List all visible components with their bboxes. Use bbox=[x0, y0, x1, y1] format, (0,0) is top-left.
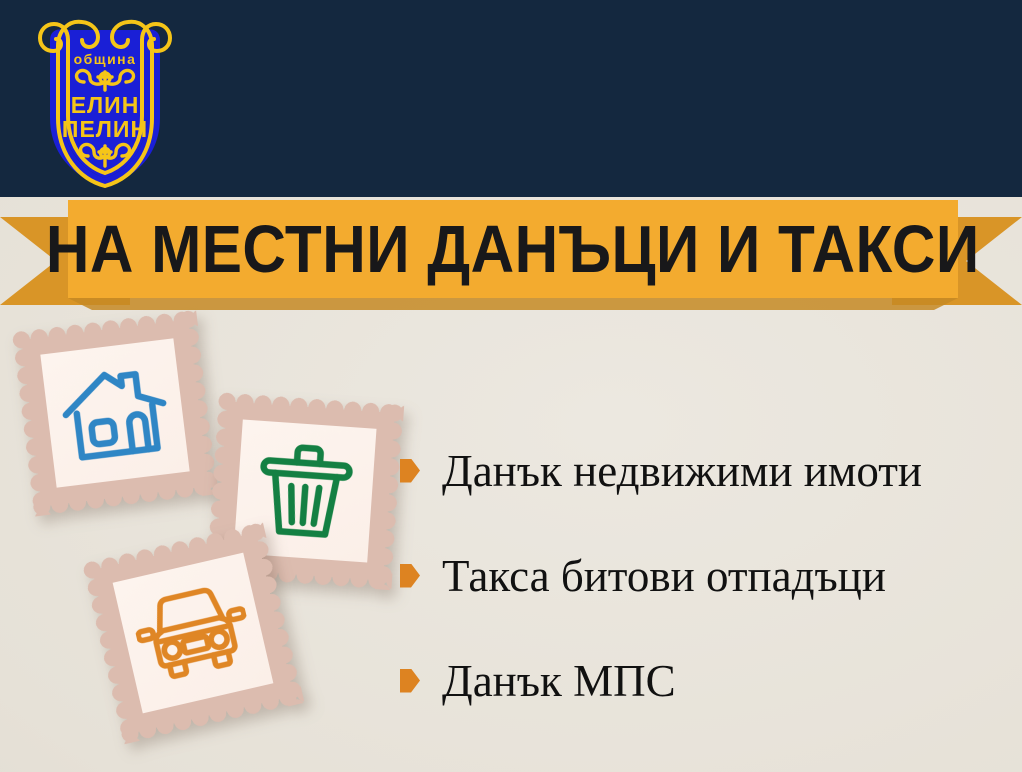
list-item[interactable]: Данък недвижими имоти bbox=[400, 418, 1000, 523]
tax-type-list: Данък недвижими имоти Такса битови отпад… bbox=[400, 418, 1000, 733]
ribbon-label: НА МЕСТНИ ДАНЪЦИ И ТАКСИ bbox=[46, 216, 980, 283]
ribbon-shadow bbox=[68, 298, 958, 310]
ribbon-banner: НА МЕСТНИ ДАНЪЦИ И ТАКСИ bbox=[0, 200, 1022, 312]
svg-text:община: община bbox=[74, 51, 137, 67]
poster-canvas: ПРОВЕРКА И ПЛАЩАНЕ НА ЗАДЪЛЖЕНИЯ община bbox=[0, 0, 1022, 772]
list-item[interactable]: Такса битови отпадъци bbox=[400, 523, 1000, 628]
bullet-arrow-icon bbox=[400, 669, 420, 693]
svg-text:ЕЛИН: ЕЛИН bbox=[71, 92, 140, 118]
list-item-label: Такса битови отпадъци bbox=[442, 551, 886, 601]
bullet-arrow-icon bbox=[400, 459, 420, 483]
list-item-label: Данък МПС bbox=[442, 656, 676, 706]
coat-of-arms-icon: община ЕЛИН ПЕЛИН bbox=[22, 6, 188, 188]
list-item-label: Данък недвижими имоти bbox=[442, 446, 922, 496]
stamp-property-tax bbox=[11, 309, 218, 516]
list-item[interactable]: Данък МПС bbox=[400, 628, 1000, 733]
svg-text:ПЕЛИН: ПЕЛИН bbox=[62, 116, 148, 142]
ribbon-panel: НА МЕСТНИ ДАНЪЦИ И ТАКСИ bbox=[68, 200, 958, 298]
house-icon bbox=[11, 309, 218, 516]
bullet-arrow-icon bbox=[400, 564, 420, 588]
